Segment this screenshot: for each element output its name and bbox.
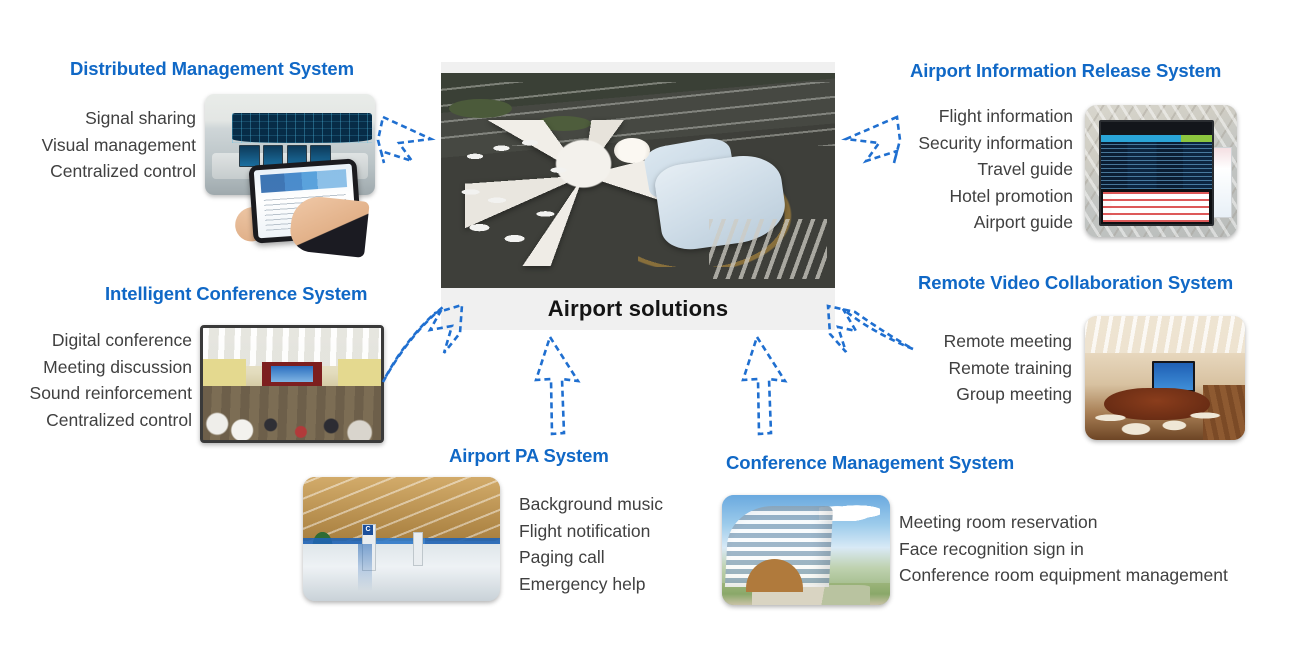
arrow-cms-to-center — [743, 337, 785, 434]
bullet-item: Meeting room reservation — [899, 509, 1239, 536]
bullet-item: Sound reinforcement — [0, 380, 192, 407]
bullets-remote-video-collaboration-system: Remote meeting Remote training Group mee… — [880, 328, 1072, 408]
node-airport-pa-system: Airport PA System — [449, 445, 609, 467]
airport-aerial-photo — [441, 73, 835, 288]
node-intelligent-conference-system: Intelligent Conference System — [105, 283, 367, 305]
node-airport-information-release-system: Airport Information Release System — [910, 60, 1221, 82]
node-title-distributed-management-system: Distributed Management System — [70, 58, 354, 80]
bullet-item: Conference room equipment management — [899, 562, 1239, 589]
node-title-remote-video-collaboration-system: Remote Video Collaboration System — [918, 272, 1233, 294]
bullets-conference-management-system: Meeting room reservation Face recognitio… — [899, 509, 1239, 589]
bullet-item: Meeting discussion — [0, 354, 192, 381]
center-caption-label: Airport solutions — [548, 296, 729, 322]
bullet-item: Centralized control — [0, 407, 192, 434]
modern-building-photo — [722, 495, 890, 605]
bullet-item: Security information — [880, 130, 1073, 157]
node-title-airport-pa-system: Airport PA System — [449, 445, 609, 467]
bullet-item: Airport guide — [880, 209, 1073, 236]
arrow-pa-to-center — [536, 337, 578, 434]
conference-hall-photo — [200, 325, 384, 443]
node-distributed-management-system: Distributed Management System — [70, 58, 354, 80]
bullet-item: Flight notification — [519, 518, 749, 545]
bullet-item: Group meeting — [880, 381, 1072, 408]
center-caption: Airport solutions — [441, 288, 835, 330]
bullet-item: Visual management — [0, 132, 196, 159]
bullet-item: Remote training — [880, 355, 1072, 382]
control-room-tablet-photo — [205, 94, 375, 240]
node-title-airport-information-release-system: Airport Information Release System — [910, 60, 1221, 82]
flight-information-display-photo — [1085, 105, 1237, 237]
node-conference-management-system: Conference Management System — [726, 452, 1014, 474]
bullet-item: Paging call — [519, 544, 749, 571]
bullet-item: Flight information — [880, 103, 1073, 130]
airport-terminal-hall-photo: C — [303, 477, 500, 601]
bullet-item: Emergency help — [519, 571, 749, 598]
arrow-dms-to-center — [378, 117, 431, 163]
bullet-item: Background music — [519, 491, 749, 518]
bullets-distributed-management-system: Signal sharing Visual management Central… — [0, 105, 196, 185]
bullet-item: Hotel promotion — [880, 183, 1073, 210]
bullet-item: Digital conference — [0, 327, 192, 354]
bullet-item: Face recognition sign in — [899, 536, 1239, 563]
node-title-conference-management-system: Conference Management System — [726, 452, 1014, 474]
bullet-item: Remote meeting — [880, 328, 1072, 355]
bullets-intelligent-conference-system: Digital conference Meeting discussion So… — [0, 327, 192, 433]
bullet-item: Centralized control — [0, 158, 196, 185]
video-conference-room-photo — [1085, 316, 1245, 440]
bullet-item: Signal sharing — [0, 105, 196, 132]
bullets-airport-pa-system: Background music Flight notification Pag… — [519, 491, 749, 597]
diagram-canvas: Airport solutions Distributed Management… — [0, 0, 1300, 661]
node-title-intelligent-conference-system: Intelligent Conference System — [105, 283, 367, 305]
bullets-airport-information-release-system: Flight information Security information … — [880, 103, 1073, 236]
node-remote-video-collaboration-system: Remote Video Collaboration System — [918, 272, 1233, 294]
bullet-item: Travel guide — [880, 156, 1073, 183]
